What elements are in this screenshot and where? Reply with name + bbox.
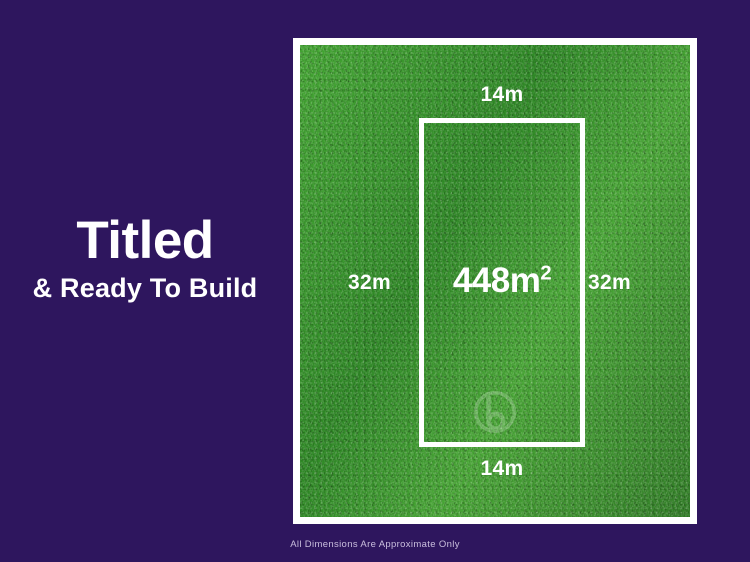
dimension-label-top: 14m xyxy=(419,83,585,107)
grass-background-image: 14m 32m 32m 14m 448m2 xyxy=(300,45,690,517)
lot-area-value: 448m xyxy=(453,261,541,300)
dimension-label-bottom: 14m xyxy=(419,457,585,481)
lot-area-label: 448m2 xyxy=(419,261,585,301)
dimension-label-right: 32m xyxy=(588,271,631,295)
lot-area-exponent: 2 xyxy=(540,262,551,284)
page-title: Titled xyxy=(0,214,290,268)
disclaimer-text: All Dimensions Are Approximate Only xyxy=(0,539,750,550)
left-text-panel: Titled & Ready To Build xyxy=(0,214,290,302)
land-lot-poster: Titled & Ready To Build 14m 32m 32m 14m … xyxy=(0,0,750,562)
dimension-label-left: 32m xyxy=(348,271,391,295)
page-subtitle: & Ready To Build xyxy=(0,274,290,302)
grass-photo-frame: 14m 32m 32m 14m 448m2 xyxy=(293,38,697,524)
